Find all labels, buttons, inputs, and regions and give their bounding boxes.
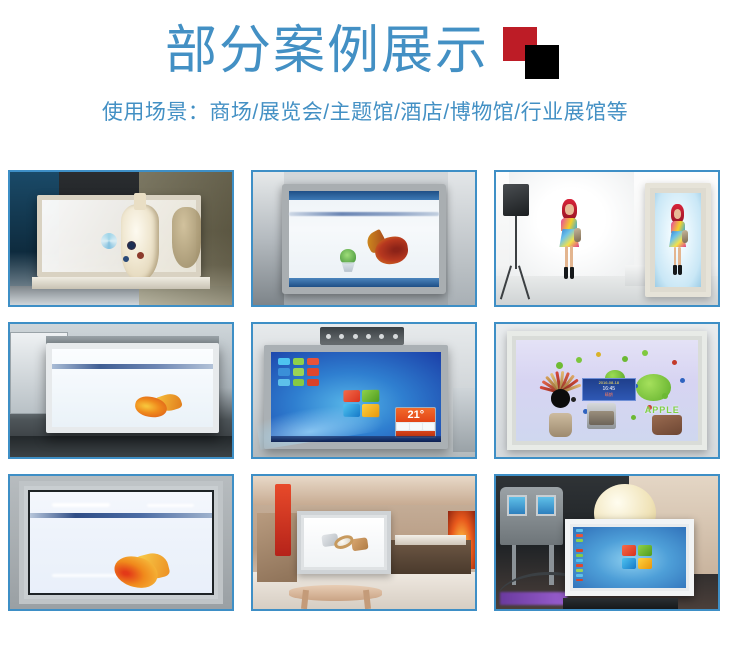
gallery-cell-4[interactable]	[8, 322, 234, 459]
title-row: 部分案例展示	[0, 14, 730, 88]
goldfish-closeup-display-image	[10, 476, 232, 609]
info-panel: 2016-08-18 16:45 晴朗	[582, 378, 637, 400]
gallery-cell-7[interactable]	[8, 474, 234, 611]
page-root: 部分案例展示 使用场景：商场/展览会/主题馆/酒店/博物馆/行业展馆等	[0, 0, 730, 645]
exhibition-hall-display-image	[496, 476, 718, 609]
gallery-cell-9[interactable]	[494, 474, 720, 611]
transparent-aquarium-goldfish-image	[10, 324, 232, 457]
transparent-showcase-vase-image	[10, 172, 232, 305]
gallery-cell-2[interactable]	[251, 170, 477, 307]
gallery-cell-5[interactable]: 21 °	[251, 322, 477, 459]
gallery-cell-1[interactable]	[8, 170, 234, 307]
gallery-cell-6[interactable]: 2016-08-18 16:45 晴朗 APPLE	[494, 322, 720, 459]
decoration-squares	[499, 23, 565, 79]
black-square-icon	[525, 45, 559, 79]
jewelry-store-watch-display-image	[253, 476, 475, 609]
holographic-model-studio-image	[496, 172, 718, 305]
page-subtitle: 使用场景：商场/展览会/主题馆/酒店/博物馆/行业展馆等	[0, 96, 730, 126]
panel-weather: 晴朗	[605, 393, 613, 397]
weather-unit: °	[420, 409, 424, 421]
cosmetics-showcase-apple-image: 2016-08-18 16:45 晴朗 APPLE	[496, 324, 718, 457]
large-transparent-display-windows-image: 21 °	[253, 324, 475, 457]
gallery-cell-8[interactable]	[251, 474, 477, 611]
page-header: 部分案例展示 使用场景：商场/展览会/主题馆/酒店/博物馆/行业展馆等	[0, 0, 730, 126]
weather-temperature: 21	[407, 409, 419, 421]
gallery-grid: 21 °	[8, 170, 722, 611]
weather-widget: 21 °	[395, 407, 436, 438]
gallery-cell-3[interactable]	[494, 170, 720, 307]
brand-word: APPLE	[645, 405, 680, 415]
page-title: 部分案例展示	[165, 25, 489, 77]
transparent-lcd-fishtank-image	[253, 172, 475, 305]
